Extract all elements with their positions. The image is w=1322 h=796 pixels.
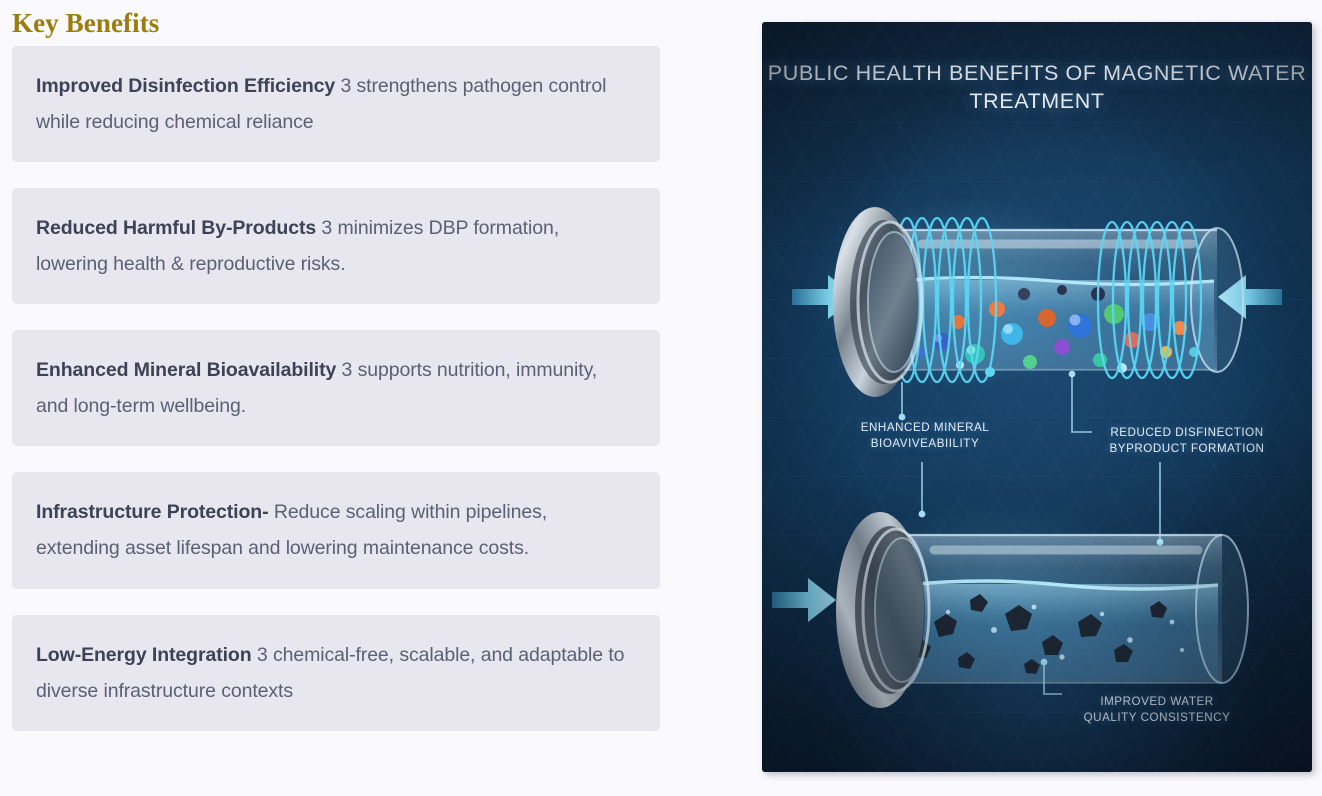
- benefit-card-mineral-bioavailability: Enhanced Mineral Bioavailability 3 suppo…: [12, 330, 660, 446]
- benefit-card-low-energy-integration: Low-Energy Integration 3 chemical-free, …: [12, 615, 660, 731]
- benefits-section: Key Benefits Improved Disinfection Effic…: [0, 0, 1322, 796]
- benefit-card-infrastructure-protection: Infrastructure Protection- Reduce scalin…: [12, 472, 660, 588]
- benefits-list: Improved Disinfection Efficiency 3 stren…: [12, 46, 660, 757]
- benefits-column: Key Benefits Improved Disinfection Effic…: [0, 0, 700, 796]
- infographic-panel: PUBLIC HEALTH BENEFITS OF MAGNETIC WATER…: [762, 22, 1312, 772]
- benefit-card-disinfection-efficiency: Improved Disinfection Efficiency 3 stren…: [12, 46, 660, 162]
- benefit-term: Enhanced Mineral Bioavailability: [36, 359, 336, 381]
- benefit-card-harmful-by-products: Reduced Harmful By-Products 3 minimizes …: [12, 188, 660, 304]
- benefit-term: Reduced Harmful By-Products: [36, 217, 316, 239]
- page-title: Key Benefits: [0, 0, 700, 39]
- panel-vignette-overlay: [762, 22, 1312, 772]
- benefit-term: Improved Disinfection Efficiency: [36, 75, 335, 97]
- benefit-term: Low-Energy Integration: [36, 644, 252, 666]
- benefit-term: Infrastructure Protection-: [36, 501, 269, 523]
